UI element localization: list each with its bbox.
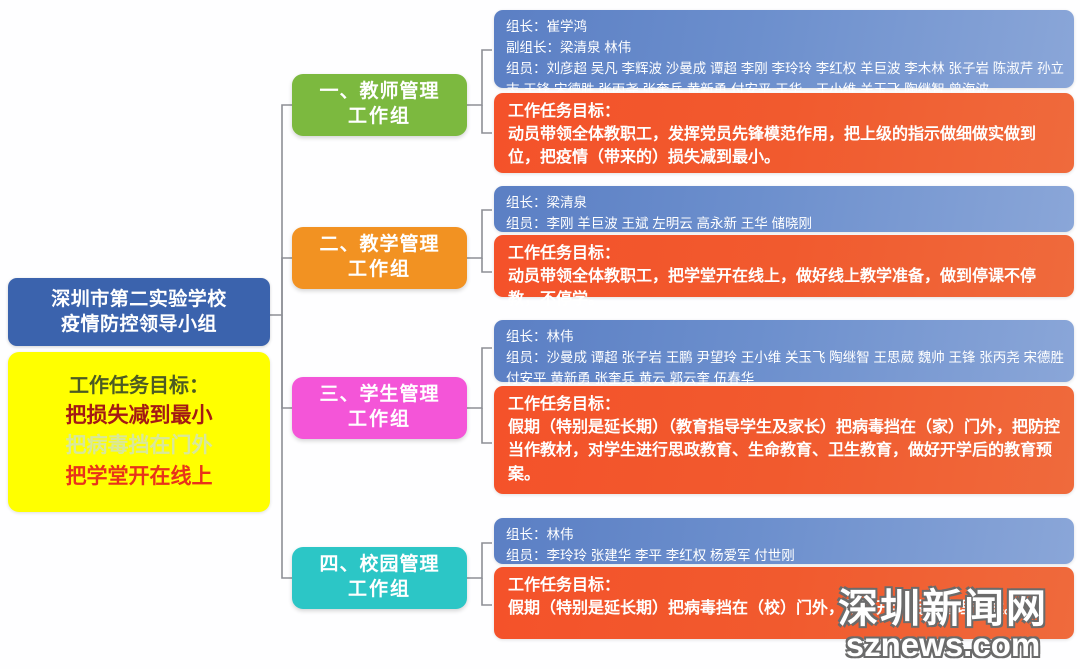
task-heading-1: 工作任务目标： [508,100,1062,123]
members-label-4: 组员： [506,548,547,563]
group-pill-4-line2: 工作组 [348,578,411,603]
root-title-box: 深圳市第二实验学校 疫情防控领导小组 [8,278,270,346]
leader-value-3: 林伟 [547,329,574,344]
group-pill-2[interactable]: 二、教学管理 工作组 [292,227,467,289]
members-box-3: 组长：林伟 组员：沙曼成 谭超 张子岩 王鹏 尹望玲 王小维 关玉飞 陶继智 王… [494,320,1074,382]
members-value-1: 刘彦超 吴凡 李辉波 沙曼成 谭超 李刚 李玲玲 李红权 羊巨波 李木林 张子岩… [506,61,1064,97]
task-box-3: 工作任务目标： 假期（特别是延长期）（教育指导学生及家长）把病毒挡在（家）门外，… [494,386,1074,494]
task-box-2: 工作任务目标： 动员带领全体教职工，把学堂开在线上，做好线上教学准备，做到停课不… [494,235,1074,297]
leader-label-3: 组长： [506,329,547,344]
deputy-label-1: 副组长： [506,40,560,55]
task-heading-2: 工作任务目标： [508,242,1062,265]
task-body-3: 假期（特别是延长期）（教育指导学生及家长）把病毒挡在（家）门外，把防控当作教材，… [508,416,1062,486]
members-value-3: 沙曼成 谭超 张子岩 王鹏 尹望玲 王小维 关玉飞 陶继智 王思葳 魏帅 王锋 … [506,350,1064,386]
root-goal-line3: 把学堂开在线上 [66,462,213,492]
members-value-2: 李刚 羊巨波 王斌 左明云 高永新 王华 储晓刚 [547,216,813,231]
members-row-members-3: 组员：沙曼成 谭超 张子岩 王鹏 尹望玲 王小维 关玉飞 陶继智 王思葳 魏帅 … [506,348,1064,390]
members-row-members-4: 组员：李玲玲 张建华 李平 李红权 杨爱军 付世刚 [506,546,1064,567]
root-goal-box: 工作任务目标： 把损失减到最小 把病毒挡在门外 把学堂开在线上 [8,352,270,512]
task-box-1: 工作任务目标： 动员带领全体教职工，发挥党员先锋模范作用，把上级的指示做细做实做… [494,93,1074,173]
members-label-1: 组员： [506,61,547,76]
deputy-value-1: 梁清泉 林伟 [560,40,631,55]
root-goal-line1: 把损失减到最小 [66,401,213,431]
group-pill-4[interactable]: 四、校园管理 工作组 [292,547,467,609]
diagram-canvas: 深圳市第二实验学校 疫情防控领导小组 工作任务目标： 把损失减到最小 把病毒挡在… [0,0,1080,669]
group-pill-3[interactable]: 三、学生管理 工作组 [292,377,467,439]
task-heading-3: 工作任务目标： [508,393,1062,416]
task-body-4: 假期（特别是延长期）把病毒挡在（校）门外，做好开学后的管理预案。 [508,597,1062,620]
leader-label-2: 组长： [506,195,547,210]
members-box-2: 组长：梁清泉 组员：李刚 羊巨波 王斌 左明云 高永新 王华 储晓刚 [494,186,1074,232]
root-goal-line2: 把病毒挡在门外 [66,431,213,461]
leader-label-4: 组长： [506,527,547,542]
members-row-leader-1: 组长：崔学鸿 [506,17,1064,38]
group-pill-3-line2: 工作组 [348,408,411,433]
members-box-1: 组长：崔学鸿 副组长：梁清泉 林伟 组员：刘彦超 吴凡 李辉波 沙曼成 谭超 李… [494,10,1074,88]
members-row-leader-2: 组长：梁清泉 [506,193,1064,214]
task-box-4: 工作任务目标： 假期（特别是延长期）把病毒挡在（校）门外，做好开学后的管理预案。 [494,567,1074,639]
members-label-3: 组员： [506,350,547,365]
group-pill-2-line1: 二、教学管理 [319,233,439,258]
root-title-line2: 疫情防控领导小组 [61,312,217,337]
task-body-1: 动员带领全体教职工，发挥党员先锋模范作用，把上级的指示做细做实做到位，把疫情（带… [508,123,1062,169]
group-pill-1-line2: 工作组 [348,105,411,130]
leader-value-1: 崔学鸿 [547,19,588,34]
task-heading-4: 工作任务目标： [508,574,1062,597]
members-value-4: 李玲玲 张建华 李平 李红权 杨爱军 付世刚 [547,548,795,563]
root-goal-heading: 工作任务目标： [69,372,209,401]
group-pill-4-line1: 四、校园管理 [319,553,439,578]
task-body-2: 动员带领全体教职工，把学堂开在线上，做好线上教学准备，做到停课不停教，不停学。 [508,265,1062,311]
leader-value-4: 林伟 [547,527,574,542]
leader-value-2: 梁清泉 [547,195,588,210]
group-pill-2-line2: 工作组 [348,258,411,283]
root-title-line1: 深圳市第二实验学校 [51,287,227,312]
group-pill-1-line1: 一、教师管理 [319,80,439,105]
group-pill-3-line1: 三、学生管理 [319,383,439,408]
members-row-leader-3: 组长：林伟 [506,327,1064,348]
members-label-2: 组员： [506,216,547,231]
members-row-leader-4: 组长：林伟 [506,525,1064,546]
members-row-deputy-1: 副组长：梁清泉 林伟 [506,38,1064,59]
leader-label-1: 组长： [506,19,547,34]
group-pill-1[interactable]: 一、教师管理 工作组 [292,74,467,136]
members-box-4: 组长：林伟 组员：李玲玲 张建华 李平 李红权 杨爱军 付世刚 [494,518,1074,564]
members-row-members-2: 组员：李刚 羊巨波 王斌 左明云 高永新 王华 储晓刚 [506,214,1064,235]
